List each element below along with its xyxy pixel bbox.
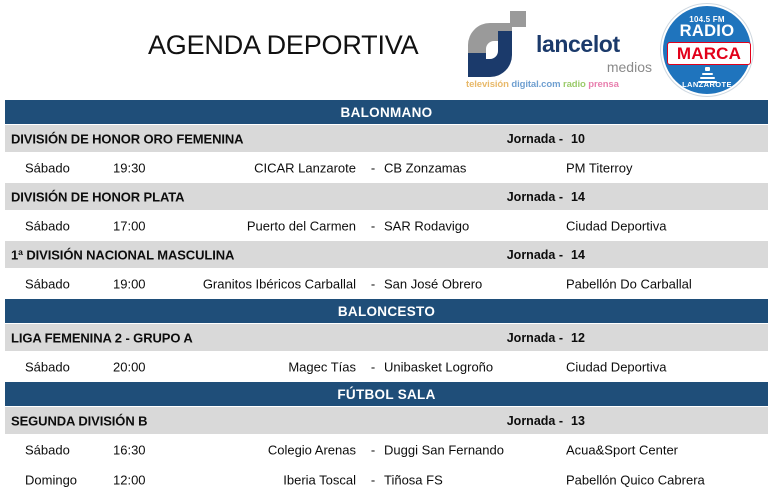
- sport-header-row: BALONMANO: [5, 100, 768, 124]
- match-separator: -: [366, 442, 380, 457]
- lancelot-logo-mark-icon: [468, 11, 530, 77]
- match-home-team: Granitos Ibéricos Carballal: [135, 276, 356, 291]
- category-row: DIVISIÓN DE HONOR ORO FEMENINAJornada -1…: [5, 125, 768, 152]
- page-title: AGENDA DEPORTIVA: [148, 30, 418, 61]
- lancelot-subtitle: medios: [536, 60, 652, 74]
- lancelot-tagline: televisión digital.com radio prensa: [466, 79, 652, 90]
- sport-header-row: BALONCESTO: [5, 299, 768, 323]
- jornada-label: Jornada -: [405, 132, 563, 146]
- category-row: LIGA FEMENINA 2 - GRUPO AJornada -12: [5, 324, 768, 351]
- match-venue: Acua&Sport Center: [566, 442, 678, 457]
- jornada-number: 14: [571, 248, 585, 262]
- match-away-team: SAR Rodavigo: [384, 218, 469, 233]
- tagline-prensa: prensa: [588, 79, 619, 90]
- match-row: Sábado19:00Granitos Ibéricos Carballal-S…: [5, 269, 768, 298]
- category-name: SEGUNDA DIVISIÓN B: [11, 413, 147, 428]
- radio-marca-disc: 104.5 FM RADIO MARCA LANZAROTE: [661, 4, 753, 96]
- sport-label: BALONCESTO: [338, 304, 435, 319]
- match-home-team: CICAR Lanzarote: [135, 160, 356, 175]
- jornada-label: Jornada -: [405, 331, 563, 345]
- match-day: Sábado: [25, 442, 70, 457]
- match-away-team: CB Zonzamas: [384, 160, 466, 175]
- jornada-number: 10: [571, 132, 585, 146]
- match-separator: -: [366, 160, 380, 175]
- match-venue: Pabellón Quico Cabrera: [566, 472, 705, 487]
- match-away-team: Tiñosa FS: [384, 472, 443, 487]
- match-row: Sábado20:00Magec Tías-Unibasket LogroñoC…: [5, 352, 768, 381]
- jornada-label: Jornada -: [405, 190, 563, 204]
- radio-marca-radio-text: RADIO: [663, 23, 751, 40]
- match-away-team: Duggi San Fernando: [384, 442, 504, 457]
- agenda-table: BALONMANODIVISIÓN DE HONOR ORO FEMENINAJ…: [5, 100, 768, 495]
- match-day: Sábado: [25, 218, 70, 233]
- match-away-team: San José Obrero: [384, 276, 482, 291]
- category-row: DIVISIÓN DE HONOR PLATAJornada -14: [5, 183, 768, 210]
- match-day: Sábado: [25, 160, 70, 175]
- match-day: Sábado: [25, 276, 70, 291]
- lancelot-medios-logo: lancelot medios televisión digital.com r…: [466, 9, 652, 93]
- match-away-team: Unibasket Logroño: [384, 359, 493, 374]
- category-row: SEGUNDA DIVISIÓN BJornada -13: [5, 407, 768, 434]
- jornada-label: Jornada -: [405, 414, 563, 428]
- jornada-number: 13: [571, 414, 585, 428]
- match-venue: PM Titerroy: [566, 160, 632, 175]
- match-row: Sábado17:00Puerto del Carmen-SAR Rodavig…: [5, 211, 768, 240]
- tagline-radio: radio: [563, 79, 586, 90]
- tagline-television: televisión: [466, 79, 509, 90]
- match-separator: -: [366, 276, 380, 291]
- category-row: 1ª DIVISIÓN NACIONAL MASCULINAJornada -1…: [5, 241, 768, 268]
- category-name: DIVISIÓN DE HONOR PLATA: [11, 189, 184, 204]
- sport-header-row: FÚTBOL SALA: [5, 382, 768, 406]
- match-row: Sábado19:30CICAR Lanzarote-CB ZonzamasPM…: [5, 153, 768, 182]
- category-name: LIGA FEMENINA 2 - GRUPO A: [11, 330, 193, 345]
- match-venue: Pabellón Do Carballal: [566, 276, 692, 291]
- match-day: Sábado: [25, 359, 70, 374]
- match-venue: Ciudad Deportiva: [566, 359, 666, 374]
- jornada-number: 12: [571, 331, 585, 345]
- sport-label: BALONMANO: [341, 105, 433, 120]
- match-separator: -: [366, 218, 380, 233]
- radio-marca-word: MARCA: [677, 45, 741, 62]
- radio-marca-banner: MARCA: [667, 42, 751, 65]
- match-home-team: Puerto del Carmen: [135, 218, 356, 233]
- category-name: 1ª DIVISIÓN NACIONAL MASCULINA: [11, 247, 234, 262]
- match-row: Domingo12:00Iberia Toscal-Tiñosa FSPabel…: [5, 465, 768, 494]
- jornada-number: 14: [571, 190, 585, 204]
- jornada-label: Jornada -: [405, 248, 563, 262]
- tagline-digital: digital.com: [511, 79, 560, 90]
- match-day: Domingo: [25, 472, 77, 487]
- category-name: DIVISIÓN DE HONOR ORO FEMENINA: [11, 131, 243, 146]
- match-home-team: Iberia Toscal: [135, 472, 356, 487]
- match-separator: -: [366, 472, 380, 487]
- lancelot-name: lancelot: [536, 33, 652, 56]
- sport-label: FÚTBOL SALA: [337, 387, 435, 402]
- lancelot-wordmark: lancelot medios: [536, 33, 652, 74]
- match-venue: Ciudad Deportiva: [566, 218, 666, 233]
- match-separator: -: [366, 359, 380, 374]
- match-home-team: Colegio Arenas: [135, 442, 356, 457]
- match-home-team: Magec Tías: [135, 359, 356, 374]
- page-header: AGENDA DEPORTIVA lancelot medios televis…: [0, 0, 774, 96]
- radio-marca-city: LANZAROTE: [663, 80, 751, 89]
- radio-marca-logo: 104.5 FM RADIO MARCA LANZAROTE: [661, 4, 757, 96]
- match-row: Sábado16:30Colegio Arenas-Duggi San Fern…: [5, 435, 768, 464]
